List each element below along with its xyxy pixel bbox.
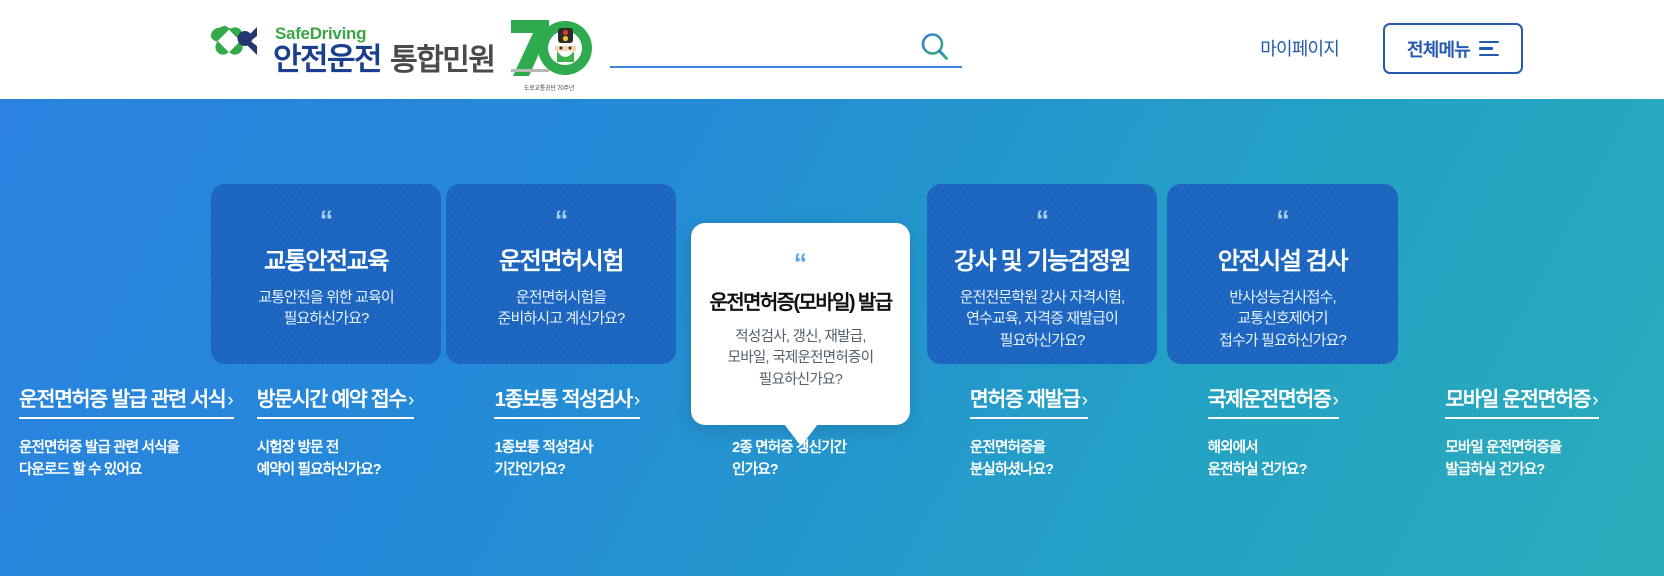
mypage-link[interactable]: 마이페이지 [1260,35,1339,61]
quick-link-description: 1종보통 적성검사 기간인가요? [494,438,713,482]
quick-link-international-license[interactable]: 국제운전면허증 › 해외에서 운전하실 건가요? [1189,382,1427,522]
search-bar[interactable] [610,28,962,70]
search-icon [918,52,952,67]
quick-link-title: 국제운전면허증 [1208,382,1331,412]
quick-link-heading[interactable]: 모바일 운전면허증 › [1445,382,1598,419]
quick-link-license-reissue[interactable]: 면허증 재발급 › 운전면허증을 분실하셨나요? [951,382,1189,522]
card-title: 안전시설 검사 [1167,241,1398,276]
quote-mark-icon: “ [211,210,441,232]
card-title: 운전면허증(모바일) 발급 [691,286,910,315]
quick-link-description: 시험장 방문 전 예약이 필요하신가요? [257,438,476,482]
quick-link-mobile-license[interactable]: 모바일 운전면허증 › 모바일 운전면허증을 발급하실 건가요? [1426,382,1664,522]
card-description: 운전전문학원 강사 자격시험, 연수교육, 자격증 재발급이 필요하신가요? [927,287,1157,352]
speech-bubble-tail [784,424,818,446]
clover-logo-icon [205,18,263,76]
card-title: 강사 및 기능검정원 [927,241,1157,276]
search-button[interactable] [918,30,952,64]
anniversary-caption: 도로교통공단 70주년 [505,83,593,92]
category-card-mobile-license-issue[interactable]: “ 운전면허증(모바일) 발급 적성검사, 갱신, 재발급, 모바일, 국제운전… [691,223,910,425]
chevron-right-icon: › [634,391,640,410]
quick-link-heading[interactable]: 운전면허증 발급 관련 서식 › [19,382,234,419]
brand-korean-main: 안전운전 [273,44,381,75]
chevron-right-icon: › [227,391,233,410]
quick-link-type1-aptitude-test[interactable]: 1종보통 적성검사 › 1종보통 적성검사 기간인가요? [475,382,713,522]
quick-link-description: 운전면허증 발급 관련 서식을 다운로드 할 수 있어요 [19,438,238,482]
quick-link-visit-reservation[interactable]: 방문시간 예약 접수 › 시험장 방문 전 예약이 필요하신가요? [238,382,476,522]
category-card-row: “ 교통안전교육 교통안전을 위한 교육이 필요하신가요? “ 운전면허시험 운… [0,99,1664,389]
quick-link-heading[interactable]: 방문시간 예약 접수 › [257,382,415,419]
chevron-right-icon: › [1082,391,1088,410]
quick-link-title: 방문시간 예약 접수 [257,382,406,412]
all-menu-label: 전체메뉴 [1407,36,1470,62]
card-title: 교통안전교육 [211,241,441,276]
card-title: 운전면허시험 [446,241,676,276]
quick-link-description: 2종 면허증 갱신기간 인가요? [732,438,951,482]
quote-mark-icon: “ [1167,210,1398,232]
chevron-right-icon: › [1333,391,1339,410]
quick-link-title: 모바일 운전면허증 [1445,382,1590,412]
site-header: SafeDriving 안전운전 통합민원 도로교통공단 70주년 [0,0,1664,99]
quick-link-description: 모바일 운전면허증을 발급하실 건가요? [1445,438,1664,482]
quick-link-heading[interactable]: 1종보통 적성검사 › [494,382,640,419]
brand-korean-sub: 통합민원 [390,46,494,76]
quote-mark-icon: “ [927,210,1157,232]
chevron-right-icon: › [408,391,414,410]
quick-link-title: 운전면허증 발급 관련 서식 [19,382,225,412]
card-description: 운전면허시험을 준비하시고 계신가요? [446,287,676,331]
hero-section: “ 교통안전교육 교통안전을 위한 교육이 필요하신가요? “ 운전면허시험 운… [0,99,1664,576]
site-logo[interactable]: SafeDriving 안전운전 통합민원 [205,18,495,76]
quick-link-heading[interactable]: 면허증 재발급 › [970,382,1088,419]
card-description: 교통안전을 위한 교육이 필요하신가요? [211,287,441,331]
category-card-license-exam[interactable]: “ 운전면허시험 운전면허시험을 준비하시고 계신가요? [446,184,676,364]
quick-link-description: 운전면허증을 분실하셨나요? [970,438,1189,482]
quote-mark-icon: “ [446,210,676,232]
quick-link-title: 면허증 재발급 [970,382,1080,412]
card-description: 적성검사, 갱신, 재발급, 모바일, 국제운전면허증이 필요하신가요? [691,327,910,392]
search-input[interactable] [610,28,962,68]
card-description: 반사성능검사접수, 교통신호제어기 접수가 필요하신가요? [1167,287,1398,352]
hamburger-menu-icon [1479,41,1499,57]
brand-english: SafeDriving [275,25,495,42]
category-card-traffic-safety-education[interactable]: “ 교통안전교육 교통안전을 위한 교육이 필요하신가요? [211,184,441,364]
category-card-instructor-examiner[interactable]: “ 강사 및 기능검정원 운전전문학원 강사 자격시험, 연수교육, 자격증 재… [927,184,1157,364]
category-card-safety-facility-inspection[interactable]: “ 안전시설 검사 반사성능검사접수, 교통신호제어기 접수가 필요하신가요? [1167,184,1398,364]
quick-link-license-forms[interactable]: 운전면허증 발급 관련 서식 › 운전면허증 발급 관련 서식을 다운로드 할 … [0,382,238,522]
quick-link-title: 1종보통 적성검사 [494,382,631,412]
quick-link-heading[interactable]: 국제운전면허증 › [1208,382,1339,419]
quick-link-description: 해외에서 운전하실 건가요? [1208,438,1427,482]
quote-mark-icon: “ [691,253,910,275]
all-menu-button[interactable]: 전체메뉴 [1383,23,1523,74]
chevron-right-icon: › [1592,391,1598,410]
anniversary-70-logo: 도로교통공단 70주년 [505,14,593,92]
